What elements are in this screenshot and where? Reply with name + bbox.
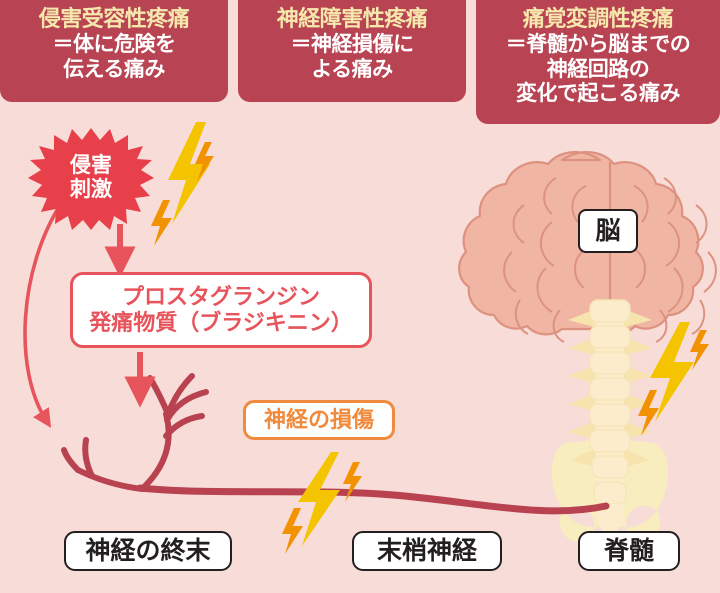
header-box-neuropathic: 神経障害性疼痛 ＝神経損傷に よる痛み [238,0,466,102]
header-title: 侵害受容性疼痛 [6,6,222,32]
starburst-icon: 侵害 刺激 [28,126,154,230]
prostaglandin-line: 発痛物質（ブラジキニン） [89,310,353,336]
label-text: 脳 [595,216,620,246]
diagram-canvas: 侵害受容性疼痛 ＝体に危険を 伝える痛み 神経障害性疼痛 ＝神経損傷に よる痛み… [0,0,720,593]
header-line: 神経回路の [482,58,714,83]
lightning-bolt-icon [151,122,214,246]
nerve-damage-label: 神経の損傷 [243,400,395,440]
nerve-ending-icon [64,376,206,489]
header-line: ＝体に危険を [6,33,222,58]
label-spinal-cord: 脊髄 [578,531,680,571]
header-line: ＝神経損傷に [244,33,460,58]
header-title: 神経障害性疼痛 [244,6,460,32]
label-brain: 脳 [578,209,638,253]
header-title: 痛覚変調性疼痛 [482,6,714,32]
header-line: 変化で起こる痛み [482,82,714,107]
label-text: 脊髄 [604,536,654,566]
prostaglandin-box: プロスタグランジン 発痛物質（ブラジキニン） [70,272,372,348]
header-line: よる痛み [244,58,460,83]
label-nerve-ending: 神経の終末 [64,531,232,571]
label-peripheral-nerve: 末梢神経 [352,531,502,571]
header-box-nociceptive: 侵害受容性疼痛 ＝体に危険を 伝える痛み [0,0,228,102]
header-line: ＝脊髄から脳までの [482,33,714,58]
lightning-bolt-icon [282,452,362,554]
prostaglandin-line: プロスタグランジン [122,284,320,310]
header-box-nociplastic: 痛覚変調性疼痛 ＝脊髄から脳までの 神経回路の 変化で起こる痛み [476,0,720,124]
header-line: 伝える痛み [6,58,222,83]
arrow-icon-burst-to-nerve-ending [25,202,62,420]
lightning-bolt-icon [638,322,709,436]
nerve-damage-text: 神経の損傷 [264,407,374,433]
label-text: 神経の終末 [85,536,210,566]
peripheral-nerve-line [140,488,606,511]
label-text: 末梢神経 [377,536,477,566]
